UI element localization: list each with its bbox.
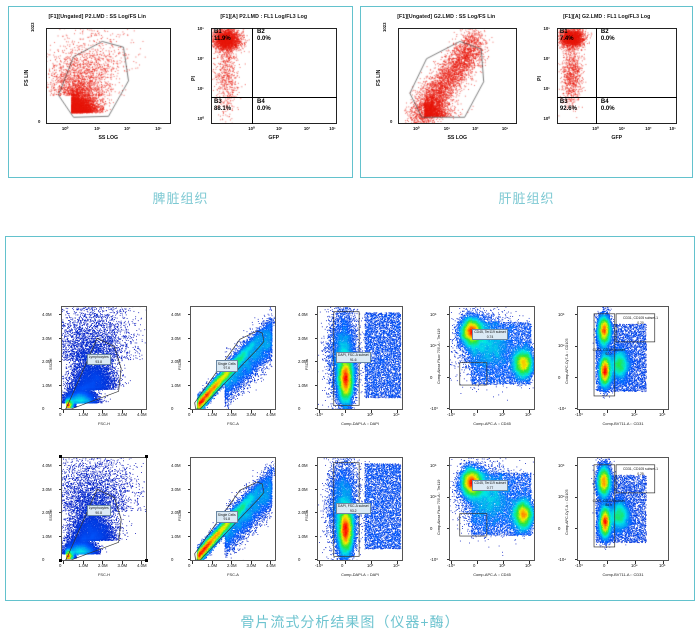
- axis-label-x: Comp-BV711-A :: CD31: [577, 421, 669, 426]
- axis-label-y: SSC-H: [49, 510, 53, 521]
- plot-spleen-0: [F1][Ungated] P2.LMD : SS Log/FS Lin1023…: [18, 14, 177, 164]
- xtick: 10²: [124, 126, 130, 131]
- xtick-mark: [345, 561, 346, 564]
- ytick-mark: [59, 408, 62, 409]
- ytick-mark: [188, 408, 191, 409]
- ytick-mark: [575, 559, 578, 560]
- xtick-mark: [231, 561, 232, 564]
- xtick: 1.0M: [79, 412, 89, 417]
- gate-label-dapi-fsc-a-subset: DAPI, FSC-A subset93.2: [336, 503, 371, 515]
- xtick-mark: [83, 410, 84, 413]
- gate-label-dapi-fsc-a-subset: DAPI, FSC-A subset91.6: [336, 352, 371, 364]
- quadrant-hline: [557, 97, 678, 98]
- gate-value: 88.9: [593, 503, 625, 507]
- plot-spleen-1: [F1][A] P2.LMD : FL1 Log/FL3 Log10³10²10…: [185, 14, 344, 164]
- xtick: 2.0M: [227, 412, 237, 417]
- bone-plot-r1-c2: 01.0M2.0M3.0M4.0M01.0M2.0M3.0M4.0MFSC-AF…: [170, 300, 282, 440]
- quadrant-label-B4: B4: [601, 99, 609, 105]
- ytick: 4.0M: [171, 312, 181, 317]
- xtick: 2.0M: [227, 563, 237, 568]
- xtick-mark: [371, 561, 372, 564]
- ytick-mark: [575, 377, 578, 378]
- ytick: 10⁴: [558, 343, 565, 348]
- axis-label-x: FSC-H: [61, 421, 147, 426]
- xtick: 10⁰: [248, 126, 255, 132]
- gate-value: 91.6: [338, 358, 369, 362]
- gate-value: 93.2: [338, 509, 369, 513]
- ytick-mark: [575, 465, 578, 466]
- xtick-mark: [397, 561, 398, 564]
- quadrant-vline: [596, 28, 597, 124]
- xtick: 0: [341, 563, 343, 568]
- xtick: 4.0M: [137, 412, 147, 417]
- axis-label-y: Comp-Alexa Fluor 700-A :: Ter119: [437, 480, 441, 535]
- xtick-mark: [663, 561, 664, 564]
- xtick: 10⁵: [525, 563, 532, 568]
- xtick: 10¹: [94, 126, 100, 131]
- ytick-mark: [315, 559, 318, 560]
- xtick: 10²: [645, 126, 651, 131]
- plot-frame: [190, 306, 276, 410]
- xtick: -10³: [315, 563, 323, 568]
- ytick-mark: [188, 361, 191, 362]
- gate-label-cd31-cd105-subset: CD31, CD105 subset92.7: [593, 348, 625, 357]
- ytick: 0: [42, 557, 44, 562]
- xtick-mark: [607, 561, 608, 564]
- ytick-mark: [447, 497, 450, 498]
- ytick: 1023: [30, 22, 35, 32]
- ytick-mark: [575, 408, 578, 409]
- quadrant-value-B3: 92.6%: [560, 106, 577, 112]
- ytick-mark: [59, 385, 62, 386]
- gate-name: DAPI, FSC-A subset: [338, 353, 369, 357]
- gate-value: 93.8: [89, 360, 109, 364]
- ytick-mark: [575, 497, 578, 498]
- quadrant-hline: [211, 97, 338, 98]
- xtick: 0: [473, 563, 475, 568]
- gate-label-cd45-ter119-subset: CD45, Ter119 subset0.74: [472, 329, 508, 341]
- ytick-mark: [447, 528, 450, 529]
- xtick-mark: [122, 561, 123, 564]
- ytick-mark: [315, 338, 318, 339]
- ytick-mark: [59, 314, 62, 315]
- ytick: 10²: [544, 56, 550, 61]
- plot-frame: [449, 306, 535, 410]
- gate-name: DAPI, FSC-A subset: [338, 504, 369, 508]
- ytick: 0: [298, 406, 300, 411]
- selection-handle[interactable]: [59, 455, 62, 458]
- xtick: 0: [59, 412, 61, 417]
- ytick: 0: [298, 557, 300, 562]
- gate-label-single-cells: Single Cells97.6: [216, 360, 238, 372]
- ytick-mark: [447, 559, 450, 560]
- gate-name: CD45, Ter119 subset: [474, 330, 506, 334]
- axis-label-y: FSC-A: [305, 510, 309, 521]
- bone-plot-r2-c1: 01.0M2.0M3.0M4.0M01.0M2.0M3.0M4.0MFSC-HS…: [41, 451, 153, 591]
- axis-label-x: SS LOG: [398, 135, 517, 141]
- xtick: 10²: [472, 126, 478, 131]
- axis-label-x: Comp-DAPI-A :: DAPI: [317, 572, 403, 577]
- ytick-mark: [188, 489, 191, 490]
- ytick-mark: [447, 465, 450, 466]
- xtick-mark: [319, 561, 320, 564]
- xtick: 10³: [502, 126, 508, 131]
- xtick: 1.0M: [208, 563, 218, 568]
- axis-label-x: GFP: [557, 135, 678, 141]
- gate-name: CD45, Ter119 subset: [474, 481, 506, 485]
- plot-title: [F1][Ungated] P2.LMD : SS Log/FS Lin: [18, 14, 177, 20]
- ytick: 10³: [198, 26, 204, 31]
- xtick-mark: [663, 410, 664, 413]
- ytick: 10⁵: [430, 463, 437, 468]
- ytick: 4.0M: [298, 463, 308, 468]
- selection-handle[interactable]: [145, 455, 148, 458]
- ytick: 10⁴: [558, 494, 565, 499]
- axis-label-x: FSC-A: [190, 572, 276, 577]
- axis-label-x: Comp-DAPI-A :: DAPI: [317, 421, 403, 426]
- ytick-mark: [315, 361, 318, 362]
- xtick: 10¹: [619, 126, 625, 131]
- xtick: -10³: [315, 412, 323, 417]
- xtick: 3.0M: [118, 412, 128, 417]
- plot-title: [F1][Ungated] G2.LMD : SS Log/FS Lin: [370, 14, 523, 20]
- xtick-mark: [212, 410, 213, 413]
- xtick-mark: [141, 561, 142, 564]
- ytick: 0: [558, 375, 560, 380]
- axis-label-y: Comp-Alexa Fluor 700-A :: Ter119: [437, 329, 441, 384]
- ytick: 10¹: [544, 86, 550, 91]
- xtick-mark: [251, 561, 252, 564]
- quadrant-label-B3: B3: [214, 99, 222, 105]
- bone-plot-r1-c4: -10³010⁴10⁵-10³010³10⁵Comp-APC-A :: CD45…: [429, 300, 541, 440]
- axis-label-y: PI: [191, 76, 197, 81]
- plot-title: [F1][A] P2.LMD : FL1 Log/FL3 Log: [185, 14, 344, 20]
- bone-plot-r2-c3: 01.0M2.0M3.0M4.0M-10³010³10⁴Comp-DAPI-A …: [297, 451, 409, 591]
- xtick-mark: [579, 410, 580, 413]
- ytick: 10⁵: [558, 463, 565, 468]
- xtick: 0: [341, 412, 343, 417]
- ytick: -10⁴: [558, 557, 566, 562]
- xtick: 10⁰: [62, 126, 69, 132]
- ytick: 3.0M: [298, 487, 308, 492]
- xtick: 10²: [304, 126, 310, 131]
- ytick: 0: [42, 406, 44, 411]
- axis-label-x: SS LOG: [46, 135, 171, 141]
- ytick-mark: [59, 536, 62, 537]
- xtick-mark: [102, 410, 103, 413]
- xtick-mark: [319, 410, 320, 413]
- ytick-mark: [447, 346, 450, 347]
- gate-overlay: [46, 28, 171, 124]
- xtick: 0: [473, 412, 475, 417]
- xtick: -10³: [447, 563, 455, 568]
- ytick: 10¹: [198, 86, 204, 91]
- ytick-mark: [315, 408, 318, 409]
- ytick-mark: [575, 528, 578, 529]
- ytick-mark: [575, 314, 578, 315]
- ytick: 4.0M: [42, 312, 52, 317]
- xtick-mark: [141, 410, 142, 413]
- quadrant-label-B4: B4: [257, 99, 265, 105]
- caption-liver: 肝脏组织: [360, 188, 693, 207]
- ytick-mark: [447, 408, 450, 409]
- xtick: 1.0M: [208, 412, 218, 417]
- axis-label-y: Comp-APC-Cy7-A :: CD105: [565, 339, 569, 385]
- quadrant-value-B2: 0.0%: [257, 36, 271, 42]
- xtick-mark: [251, 410, 252, 413]
- ytick-mark: [447, 377, 450, 378]
- axis-label-y: PI: [537, 76, 543, 81]
- xtick: 10⁴: [631, 563, 638, 568]
- xtick-mark: [397, 410, 398, 413]
- bone-plot-r1-c1: 01.0M2.0M3.0M4.0M01.0M2.0M3.0M4.0MFSC-HS…: [41, 300, 153, 440]
- ytick: 1.0M: [298, 534, 308, 539]
- gate-label-cd31-cd105-subset-1: CD31, CD105 subset-10.20: [623, 316, 658, 325]
- bone-plot-r1-c3: 01.0M2.0M3.0M4.0M-10³010³10⁴Comp-DAPI-A …: [297, 300, 409, 440]
- xtick: 3.0M: [247, 412, 257, 417]
- gate-value: 0.77: [474, 486, 506, 490]
- quadrant-label-B1: B1: [560, 29, 568, 35]
- quadrant-label-B2: B2: [257, 29, 265, 35]
- gate-value: 97.6: [218, 366, 236, 370]
- xtick: 3.0M: [118, 563, 128, 568]
- plot-liver-0: [F1][Ungated] G2.LMD : SS Log/FS Lin1023…: [370, 14, 523, 164]
- ytick: 0: [558, 526, 560, 531]
- xtick-mark: [477, 561, 478, 564]
- ytick: 10³: [544, 26, 550, 31]
- xtick: -10³: [575, 563, 583, 568]
- gate-label-lymphocytes: Lymphocytes93.8: [87, 354, 111, 366]
- xtick: 10³: [367, 563, 373, 568]
- ytick: 10²: [198, 56, 204, 61]
- xtick: 4.0M: [266, 412, 276, 417]
- ytick-mark: [315, 536, 318, 537]
- ytick: 3.0M: [42, 487, 52, 492]
- ytick-mark: [59, 361, 62, 362]
- ytick-mark: [188, 385, 191, 386]
- xtick-mark: [635, 561, 636, 564]
- xtick-mark: [83, 561, 84, 564]
- quadrant-value-B1: 11.9%: [214, 36, 231, 42]
- xtick: 2.0M: [98, 563, 108, 568]
- gate-label-lymphocytes: Lymphocytes90.8: [87, 505, 111, 517]
- ytick: 3.0M: [298, 336, 308, 341]
- caption-spleen: 脾脏组织: [8, 188, 353, 207]
- ytick: 1.0M: [42, 383, 52, 388]
- xtick-mark: [451, 410, 452, 413]
- ytick: -10⁴: [558, 406, 566, 411]
- ytick: 0: [390, 119, 392, 124]
- ytick: -10³: [430, 557, 438, 562]
- xtick: 10¹: [276, 126, 282, 131]
- bone-plot-r1-c5: -10⁴010⁴10⁵-10³010⁴10⁵Comp-BV711-A :: CD…: [557, 300, 675, 440]
- ytick: -10³: [430, 406, 438, 411]
- xtick: 0: [603, 412, 605, 417]
- xtick: 10³: [499, 563, 505, 568]
- xtick-mark: [63, 561, 64, 564]
- gate-value: 90.8: [89, 511, 109, 515]
- xtick: 0: [188, 563, 190, 568]
- xtick-mark: [192, 561, 193, 564]
- ytick: 4.0M: [42, 463, 52, 468]
- xtick: 10⁵: [525, 412, 532, 417]
- ytick-mark: [188, 338, 191, 339]
- ytick: 10⁴: [430, 494, 437, 499]
- xtick: 4.0M: [137, 563, 147, 568]
- ytick-mark: [59, 338, 62, 339]
- ytick: 10⁵: [558, 312, 565, 317]
- gate-name: Lymphocytes: [89, 355, 109, 359]
- ytick-mark: [59, 512, 62, 513]
- xtick: 1.0M: [79, 563, 89, 568]
- quadrant-value-B4: 0.0%: [601, 106, 615, 112]
- xtick-mark: [477, 410, 478, 413]
- ytick: 1.0M: [171, 383, 181, 388]
- ytick: 0: [430, 375, 432, 380]
- xtick: 0: [188, 412, 190, 417]
- ytick: 3.0M: [171, 487, 181, 492]
- ytick: 0: [38, 119, 40, 124]
- plot-frame: [190, 457, 276, 561]
- bone-plot-r2-c5: -10⁴010⁴10⁵-10³010⁴10⁵Comp-BV711-A :: CD…: [557, 451, 675, 591]
- selection-handle[interactable]: [145, 559, 148, 562]
- xtick: 10³: [329, 126, 335, 131]
- xtick-mark: [607, 410, 608, 413]
- bone-plot-r2-c2: 01.0M2.0M3.0M4.0M01.0M2.0M3.0M4.0MFSC-AF…: [170, 451, 282, 591]
- xtick: 10³: [669, 126, 675, 131]
- gate-value: 91.8: [218, 517, 236, 521]
- ytick-mark: [447, 314, 450, 315]
- xtick: 10⁴: [393, 563, 400, 568]
- xtick: 10⁰: [413, 126, 420, 132]
- xtick-mark: [529, 410, 530, 413]
- axis-label-x: FSC-H: [61, 572, 147, 577]
- xtick-mark: [579, 561, 580, 564]
- plot-title: [F1][A] G2.LMD : FL1 Log/FL3 Log: [531, 14, 684, 20]
- ytick: 10⁵: [430, 312, 437, 317]
- quadrant-value-B4: 0.0%: [257, 106, 271, 112]
- xtick-mark: [529, 561, 530, 564]
- ytick-mark: [575, 346, 578, 347]
- axis-label-y: SSC-H: [49, 359, 53, 370]
- ytick: 3.0M: [171, 336, 181, 341]
- gate-value: 0.25: [623, 472, 658, 476]
- xtick-mark: [635, 410, 636, 413]
- ytick: 0: [171, 557, 173, 562]
- plot-frame: [449, 457, 535, 561]
- xtick: 10⁰: [592, 126, 599, 132]
- axis-label-y: FS LIN: [24, 70, 30, 86]
- gate-value: 0.74: [474, 335, 506, 339]
- ytick-mark: [315, 465, 318, 466]
- caption-bone: 骨片流式分析结果图（仪器+酶）: [0, 612, 700, 632]
- ytick: 1023: [382, 22, 387, 32]
- quadrant-value-B2: 0.0%: [601, 36, 615, 42]
- gate-label-cd45-ter119-subset: CD45, Ter119 subset0.77: [472, 480, 508, 492]
- xtick: 10⁴: [631, 412, 638, 417]
- xtick-mark: [63, 410, 64, 413]
- quadrant-label-B1: B1: [214, 29, 222, 35]
- xtick: 10³: [155, 126, 161, 131]
- ytick-mark: [188, 536, 191, 537]
- xtick-mark: [122, 410, 123, 413]
- xtick-mark: [451, 561, 452, 564]
- ytick-mark: [188, 465, 191, 466]
- axis-label-y: FSC-A: [305, 359, 309, 370]
- axis-label-y: FSC-H: [178, 510, 182, 521]
- xtick: -10³: [447, 412, 455, 417]
- ytick: 0: [430, 526, 432, 531]
- xtick: 3.0M: [247, 563, 257, 568]
- xtick: 10³: [367, 412, 373, 417]
- xtick: 10¹: [444, 126, 450, 131]
- xtick: 0: [59, 563, 61, 568]
- gate-label-single-cells: Single Cells91.8: [216, 511, 238, 523]
- ytick: 4.0M: [298, 312, 308, 317]
- xtick-mark: [212, 561, 213, 564]
- ytick-mark: [315, 314, 318, 315]
- ytick: 10⁰: [544, 116, 551, 122]
- xtick: 4.0M: [266, 563, 276, 568]
- quadrant-label-B2: B2: [601, 29, 609, 35]
- axis-label-y: FS LIN: [376, 70, 382, 86]
- xtick: 10⁵: [659, 563, 666, 568]
- ytick-mark: [188, 559, 191, 560]
- ytick-mark: [59, 489, 62, 490]
- selection-handle[interactable]: [59, 559, 62, 562]
- ytick: 1.0M: [298, 383, 308, 388]
- ytick: 10⁴: [430, 343, 437, 348]
- xtick-mark: [270, 410, 271, 413]
- ytick: 1.0M: [42, 534, 52, 539]
- gate-value: 0.20: [623, 321, 658, 325]
- axis-label-y: Comp-APC-Cy7-A :: CD105: [565, 490, 569, 536]
- ytick-mark: [315, 489, 318, 490]
- axis-label-x: Comp-APC-A :: CD45: [449, 572, 535, 577]
- xtick-mark: [503, 561, 504, 564]
- xtick: 2.0M: [98, 412, 108, 417]
- gate-label-cd31-cd105-subset: CD31, CD105 subset88.9: [593, 499, 625, 508]
- ytick-mark: [315, 385, 318, 386]
- gate-label-cd31-cd105-subset-1: CD31, CD105 subset-10.25: [623, 467, 658, 476]
- ytick-mark: [188, 314, 191, 315]
- ytick: 3.0M: [42, 336, 52, 341]
- xtick: 10⁴: [393, 412, 400, 417]
- gate-overlay: [398, 28, 517, 124]
- ytick-mark: [59, 465, 62, 466]
- ytick: 1.0M: [171, 534, 181, 539]
- gate-name: Lymphocytes: [89, 506, 109, 510]
- xtick-mark: [192, 410, 193, 413]
- xtick-mark: [102, 561, 103, 564]
- bone-plot-r2-c4: -10³010⁴10⁵-10³010³10⁵Comp-APC-A :: CD45…: [429, 451, 541, 591]
- xtick: 0: [603, 563, 605, 568]
- xtick: 10⁵: [659, 412, 666, 417]
- quadrant-label-B3: B3: [560, 99, 568, 105]
- ytick: 4.0M: [171, 463, 181, 468]
- axis-label-x: GFP: [211, 135, 338, 141]
- plot-liver-1: [F1][A] G2.LMD : FL1 Log/FL3 Log10³10²10…: [531, 14, 684, 164]
- axis-label-x: Comp-BV711-A :: CD31: [577, 572, 669, 577]
- xtick: -10³: [575, 412, 583, 417]
- axis-label-y: FSC-H: [178, 359, 182, 370]
- xtick-mark: [231, 410, 232, 413]
- xtick-mark: [503, 410, 504, 413]
- quadrant-vline: [252, 28, 253, 124]
- xtick-mark: [270, 561, 271, 564]
- axis-label-x: Comp-APC-A :: CD45: [449, 421, 535, 426]
- xtick-mark: [345, 410, 346, 413]
